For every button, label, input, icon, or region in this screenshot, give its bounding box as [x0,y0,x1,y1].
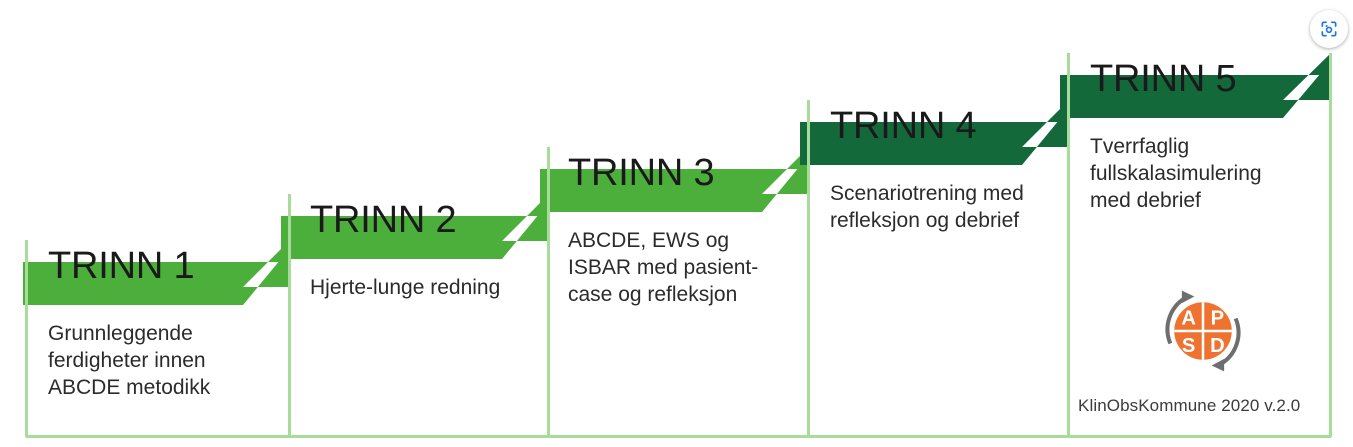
step-4-description: Scenariotrening med refleksjon og debrie… [830,180,1045,234]
apsd-logo: A P S D [1155,283,1251,379]
staircase-diagram: TRINN 1 Grunnleggende ferdigheter innen … [0,0,1353,447]
logo-arrowhead-top [1182,291,1194,303]
step-2-description: Hjerte-lunge redning [310,274,540,301]
logo-letter-s: S [1182,335,1195,357]
google-lens-button[interactable] [1310,10,1348,48]
step-3-title: TRINN 3 [568,151,714,195]
logo-arrowhead-bottom [1212,359,1224,371]
step-1-description: Grunnleggende ferdigheter innen ABCDE me… [48,320,263,401]
apsd-logo-icon: A P S D [1155,283,1251,379]
footer-version-note: KlinObsKommune 2020 v.2.0 [1078,396,1300,416]
logo-letter-a: A [1181,307,1196,329]
step-5-title: TRINN 5 [1090,57,1236,101]
step-1-title: TRINN 1 [48,244,194,288]
logo-letter-p: P [1211,307,1224,329]
step-5-description: Tverrfaglig fullskalasimulering med debr… [1090,133,1285,214]
step-3-description: ABCDE, EWS og ISBAR med pasient-case og … [568,227,783,308]
step-2-title: TRINN 2 [310,198,456,242]
logo-letter-d: D [1210,335,1225,357]
step-4-title: TRINN 4 [830,104,976,148]
lens-scan-icon [1319,19,1339,39]
